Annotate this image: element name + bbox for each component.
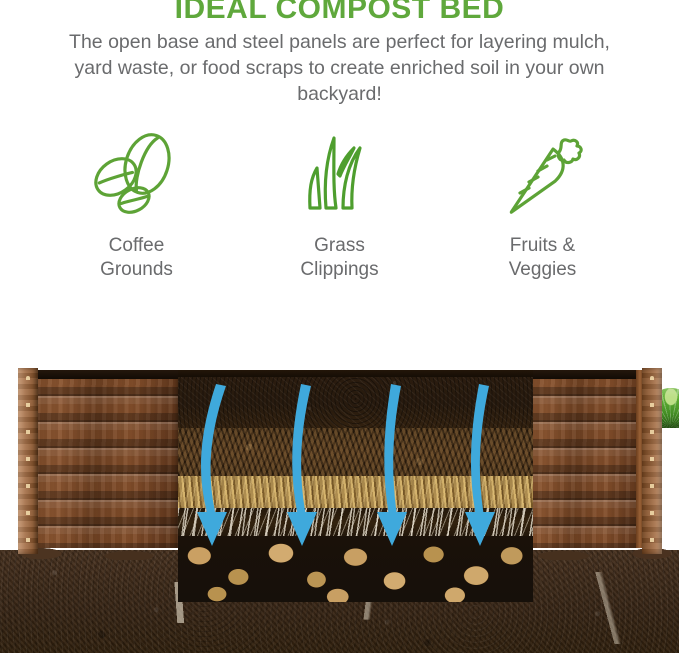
feature-label-line2: Clippings [300,259,378,280]
raised-garden-bed [8,370,671,562]
bed-rim-left [34,370,178,379]
bed-corner-post-left [18,368,38,554]
feature-grass-clippings: Grass Clippings [238,128,441,282]
mulch-layer [178,428,533,476]
feature-list: Coffee Grounds Grass Clippings [0,128,679,282]
logs-layer [178,536,533,602]
bed-corner-post-right [642,368,662,554]
product-infographic: IDEAL COMPOST BED The open base and stee… [0,0,679,653]
rivet-column [650,376,654,544]
garden-bed-scene [0,330,679,653]
header: IDEAL COMPOST BED The open base and stee… [0,0,679,108]
coffee-beans-icon [89,128,185,220]
feature-label-line1: Coffee [109,235,165,256]
bed-rim-right [526,370,644,379]
feature-label: Coffee Grounds [100,234,173,282]
cutaway-top-edge [178,370,533,377]
feature-coffee-grounds: Coffee Grounds [35,128,238,282]
bed-panel-right [526,370,644,548]
feature-label-line1: Fruits & [510,235,575,256]
feature-label-line2: Grounds [100,259,173,280]
bed-panel-left [34,370,178,548]
feature-label: Grass Clippings [300,234,378,282]
page-title: IDEAL COMPOST BED [0,0,679,24]
rivet-column [26,376,30,544]
compost-layer [178,370,533,428]
grass-blades-icon [296,128,384,220]
twigs-layer [178,508,533,538]
feature-fruits-veggies: Fruits & Veggies [441,128,644,282]
feature-label-line2: Veggies [509,259,577,280]
bed-cutaway-cross-section [178,370,533,602]
feature-label-line1: Grass [314,235,365,256]
carrot-icon [497,128,589,220]
feature-label: Fruits & Veggies [509,234,577,282]
page-subtitle: The open base and steel panels are perfe… [50,29,630,107]
